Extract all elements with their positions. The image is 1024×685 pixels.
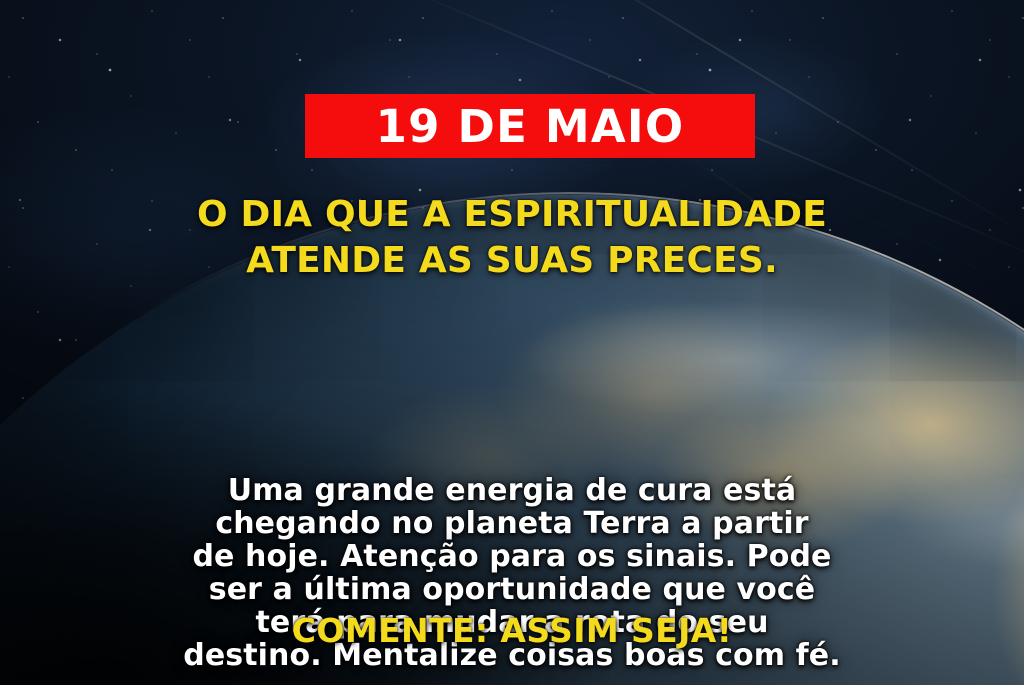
poster-canvas: 19 DE MAIO O DIA QUE A ESPIRITUALIDADE A… xyxy=(0,0,1024,685)
date-banner: 19 DE MAIO xyxy=(305,94,755,158)
poster-content: 19 DE MAIO O DIA QUE A ESPIRITUALIDADE A… xyxy=(0,0,1024,685)
date-banner-label: 19 DE MAIO xyxy=(376,104,685,149)
call-to-action-text: COMENTE: ASSIM SEJA! xyxy=(62,613,962,649)
headline-text: O DIA QUE A ESPIRITUALIDADE ATENDE AS SU… xyxy=(62,192,962,284)
